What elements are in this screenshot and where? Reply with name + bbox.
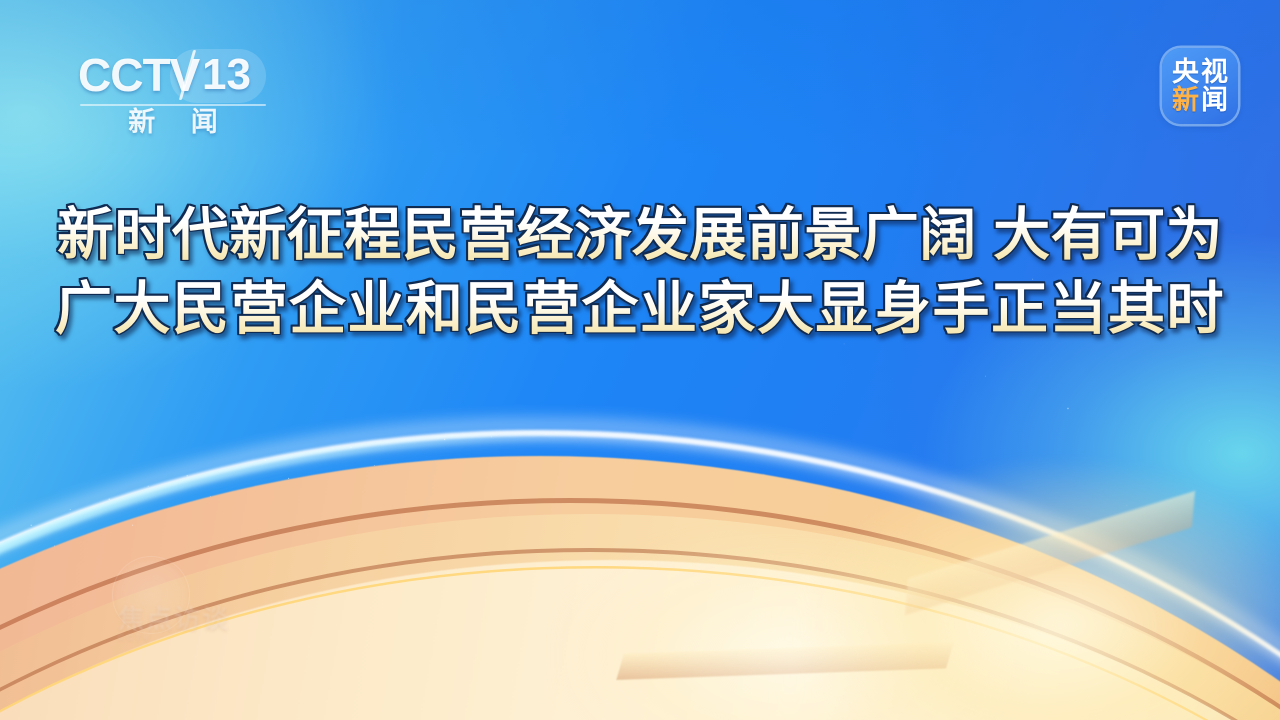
badge-row-top: 央 视 bbox=[1172, 59, 1228, 86]
program-watermark-subtext: CCTV bbox=[118, 634, 230, 642]
decorative-ribbon-wave bbox=[0, 390, 1280, 720]
cctv-news-app-badge[interactable]: 央 视 新 闻 bbox=[1162, 48, 1238, 124]
badge-char-xin: 新 bbox=[1172, 87, 1199, 114]
headline-title-block: 新时代新征程民营经济发展前景广阔 大有可为 广大民营企业和民营企业家大显身手正当… bbox=[0, 198, 1280, 346]
badge-char-wen: 闻 bbox=[1201, 87, 1228, 114]
badge-row-bottom: 新 闻 bbox=[1172, 87, 1228, 114]
cctv-channel-number: 13 bbox=[202, 48, 251, 102]
headline-line-1: 新时代新征程民营经济发展前景广阔 大有可为 bbox=[0, 198, 1280, 272]
cctv13-channel-logo: CCTV 13 新 闻 bbox=[78, 48, 268, 134]
program-watermark: 焦点访谈 CCTV bbox=[118, 606, 230, 642]
cctv-channel-subtitle: 新 闻 bbox=[78, 106, 268, 138]
badge-char-shi: 视 bbox=[1201, 59, 1228, 86]
program-watermark-text: 焦点访谈 bbox=[118, 604, 230, 634]
headline-line-2: 广大民营企业和民营企业家大显身手正当其时 bbox=[0, 272, 1280, 346]
badge-char-yang: 央 bbox=[1172, 59, 1199, 86]
ribbon-light-bloom-right bbox=[800, 460, 1280, 720]
broadcast-title-card: 焦点访谈 CCTV CCTV 13 新 闻 央 视 新 闻 新时代新征程民营经济… bbox=[0, 0, 1280, 720]
